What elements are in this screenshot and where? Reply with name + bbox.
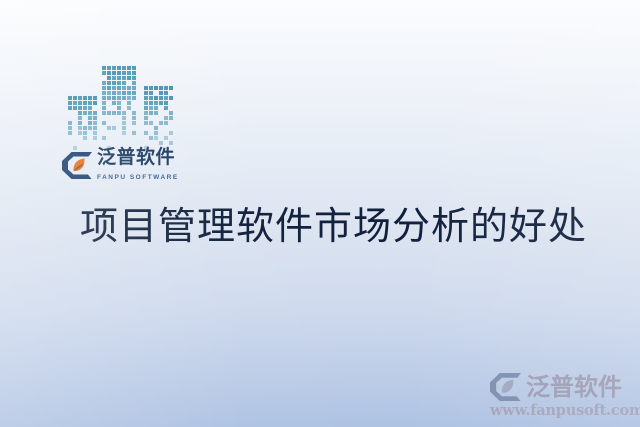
skyline-pixel	[68, 96, 72, 100]
skyline-pixel	[159, 131, 163, 135]
skyline-pixel	[93, 131, 97, 135]
skyline-pixel	[149, 86, 153, 90]
skyline-pixel	[88, 136, 92, 140]
skyline-pixel	[132, 121, 136, 125]
skyline-pixel	[164, 121, 168, 125]
skyline-pixel	[112, 111, 116, 115]
skyline-pixel	[102, 71, 106, 75]
skyline-pixel	[117, 96, 121, 100]
skyline-pixel	[112, 121, 116, 125]
skyline-pixel	[169, 131, 173, 135]
watermark-brand-name: 泛普软件	[526, 375, 622, 399]
slide-canvas: 泛普软件 FANPU SOFTWARE 项目管理软件市场分析的好处 泛普软件 w…	[0, 0, 640, 427]
skyline-pixel	[149, 126, 153, 130]
skyline-pixel	[122, 106, 126, 110]
skyline-pixel	[132, 131, 136, 135]
skyline-pixel	[132, 141, 136, 145]
skyline-pixel	[132, 126, 136, 130]
skyline-pixel	[68, 136, 72, 140]
page-title: 项目管理软件市场分析的好处	[80, 203, 587, 251]
skyline-pixel	[102, 66, 106, 70]
skyline-pixel	[164, 116, 168, 120]
skyline-pixel	[78, 106, 82, 110]
skyline-pixel	[83, 116, 87, 120]
skyline-pixel	[117, 136, 121, 140]
skyline-pixel	[88, 111, 92, 115]
skyline-pixel	[127, 131, 131, 135]
skyline-pixel	[117, 106, 121, 110]
skyline-pixel	[107, 106, 111, 110]
skyline-pixel	[107, 131, 111, 135]
skyline-pixel	[107, 96, 111, 100]
skyline-pixel	[169, 106, 173, 110]
skyline-pixel	[117, 141, 121, 145]
skyline-pixel	[107, 76, 111, 80]
skyline-pixel	[112, 86, 116, 90]
skyline-pixel	[68, 101, 72, 105]
skyline-pixel	[102, 86, 106, 90]
skyline-pixel	[117, 86, 121, 90]
skyline-pixel	[122, 111, 126, 115]
skyline-pixel	[144, 131, 148, 135]
skyline-pixel	[132, 76, 136, 80]
skyline-pixel	[164, 136, 168, 140]
skyline-pixel	[112, 81, 116, 85]
skyline-pixel	[127, 91, 131, 95]
skyline-pixel	[93, 116, 97, 120]
skyline-pixel	[122, 81, 126, 85]
skyline-pixel	[93, 141, 97, 145]
skyline-pixel	[88, 141, 92, 145]
skyline-pixel	[83, 141, 87, 145]
skyline-pixel	[73, 111, 77, 115]
skyline-pixel	[107, 66, 111, 70]
skyline-pixel	[132, 86, 136, 90]
skyline-pixel	[88, 121, 92, 125]
skyline-pixel	[83, 121, 87, 125]
skyline-pixel	[68, 121, 72, 125]
skyline-pixel	[127, 101, 131, 105]
skyline-pixel	[93, 136, 97, 140]
skyline-pixel	[132, 116, 136, 120]
skyline-pixel	[154, 96, 158, 100]
skyline-pixel	[112, 71, 116, 75]
skyline-pixel	[164, 141, 168, 145]
skyline-pixel	[149, 101, 153, 105]
skyline-pixel	[159, 126, 163, 130]
skyline-pixel	[102, 76, 106, 80]
skyline-pixel	[117, 126, 121, 130]
skyline-pixel	[112, 76, 116, 80]
skyline-pixel	[107, 86, 111, 90]
skyline-pixel	[88, 106, 92, 110]
skyline-pixel	[68, 126, 72, 130]
skyline-pixel	[154, 86, 158, 90]
skyline-pixel	[169, 96, 173, 100]
skyline-pixel	[83, 111, 87, 115]
skyline-pixel	[73, 96, 77, 100]
skyline-pixel	[144, 126, 148, 130]
skyline-pixel	[107, 136, 111, 140]
skyline-pixel	[159, 136, 163, 140]
skyline-pixel	[122, 131, 126, 135]
skyline-pixel	[169, 111, 173, 115]
skyline-pixel	[132, 96, 136, 100]
skyline-pixel	[112, 106, 116, 110]
skyline-pixel	[149, 96, 153, 100]
skyline-pixel	[127, 136, 131, 140]
skyline-pixel	[164, 91, 168, 95]
skyline-pixel	[144, 91, 148, 95]
skyline-tower-center	[102, 66, 136, 150]
skyline-pixel	[112, 116, 116, 120]
skyline-pixel	[78, 116, 82, 120]
skyline-pixel	[122, 76, 126, 80]
skyline-pixel	[83, 131, 87, 135]
skyline-pixel	[93, 121, 97, 125]
skyline-pixel	[132, 71, 136, 75]
skyline-pixel	[127, 86, 131, 90]
skyline-pixel	[78, 126, 82, 130]
skyline-pixel	[164, 96, 168, 100]
skyline-pixel	[107, 111, 111, 115]
skyline-pixel	[169, 141, 173, 145]
skyline-pixel	[149, 131, 153, 135]
skyline-pixel	[132, 66, 136, 70]
skyline-pixel	[149, 136, 153, 140]
skyline-pixel	[154, 116, 158, 120]
skyline-pixel	[68, 106, 72, 110]
skyline-pixel	[169, 126, 173, 130]
skyline-pixel	[149, 91, 153, 95]
skyline-pixel	[78, 111, 82, 115]
skyline-pixel	[88, 116, 92, 120]
skyline-pixel	[112, 101, 116, 105]
skyline-pixel	[102, 91, 106, 95]
skyline-pixel	[73, 106, 77, 110]
skyline-pixel	[117, 76, 121, 80]
skyline-pixel	[107, 81, 111, 85]
skyline-pixel	[132, 91, 136, 95]
skyline-pixel	[127, 96, 131, 100]
skyline-pixel	[127, 76, 131, 80]
skyline-pixel	[159, 106, 163, 110]
skyline-pixel	[144, 101, 148, 105]
skyline-pixel	[73, 116, 77, 120]
skyline-pixel	[159, 141, 163, 145]
skyline-pixel	[122, 126, 126, 130]
skyline-pixel	[73, 126, 77, 130]
skyline-pixel	[122, 141, 126, 145]
skyline-pixel	[169, 136, 173, 140]
watermark: 泛普软件 www.fanpusoft.com	[490, 373, 632, 419]
skyline-pixel	[127, 116, 131, 120]
skyline-pixel	[93, 126, 97, 130]
skyline-pixel	[122, 101, 126, 105]
brand-block: 泛普软件 FANPU SOFTWARE	[62, 78, 192, 182]
logo-name-en: FANPU SOFTWARE	[97, 174, 179, 181]
skyline-pixel	[117, 91, 121, 95]
skyline-pixel	[112, 131, 116, 135]
skyline-pixel	[144, 106, 148, 110]
skyline-pixel	[127, 81, 131, 85]
skyline-pixel	[149, 141, 153, 145]
skyline-pixel	[127, 121, 131, 125]
skyline-pixel	[127, 66, 131, 70]
skyline-pixel	[68, 111, 72, 115]
skyline-pixel	[73, 131, 77, 135]
skyline-pixel	[102, 141, 106, 145]
skyline-pixel	[88, 96, 92, 100]
skyline-pixel	[112, 66, 116, 70]
skyline-pixel	[107, 141, 111, 145]
skyline-pixel	[83, 96, 87, 100]
skyline-pixel	[127, 141, 131, 145]
skyline-pixel	[122, 71, 126, 75]
skyline-pixel	[149, 121, 153, 125]
skyline-pixel	[132, 106, 136, 110]
skyline-pixel	[107, 91, 111, 95]
skyline-pixel	[149, 106, 153, 110]
skyline-pixel	[159, 101, 163, 105]
skyline-pixel	[112, 126, 116, 130]
skyline-pixel	[117, 111, 121, 115]
skyline-pixel	[83, 126, 87, 130]
skyline-pixel	[122, 66, 126, 70]
skyline-pixel	[102, 126, 106, 130]
skyline-pixel	[149, 111, 153, 115]
skyline-pixel	[102, 121, 106, 125]
skyline-pixel	[102, 116, 106, 120]
skyline-pixel	[144, 116, 148, 120]
skyline-pixel	[122, 96, 126, 100]
skyline-pixel	[154, 111, 158, 115]
skyline-pixel	[169, 121, 173, 125]
skyline-pixel	[164, 131, 168, 135]
skyline-pixel	[169, 101, 173, 105]
skyline-pixel	[112, 91, 116, 95]
skyline-pixel	[132, 81, 136, 85]
skyline-pixel	[93, 111, 97, 115]
skyline-pixel	[117, 131, 121, 135]
skyline-pixel	[102, 131, 106, 135]
skyline-pixel	[169, 116, 173, 120]
skyline-pixel	[164, 101, 168, 105]
fanpu-emblem-watermark-icon	[490, 373, 521, 401]
skyline-pixel	[127, 111, 131, 115]
skyline-pixel	[78, 96, 82, 100]
skyline-pixel	[144, 111, 148, 115]
company-logo: 泛普软件 FANPU SOFTWARE	[62, 148, 192, 183]
skyline-pixel	[122, 91, 126, 95]
skyline-pixel	[154, 101, 158, 105]
skyline-pixel	[144, 96, 148, 100]
skyline-pixel	[159, 96, 163, 100]
skyline-pixel	[117, 116, 121, 120]
skyline-pixel	[78, 141, 82, 145]
skyline-pixel	[122, 116, 126, 120]
skyline-pixel	[127, 71, 131, 75]
skyline-pixel	[107, 126, 111, 130]
skyline-pixel	[132, 101, 136, 105]
skyline-pixel	[78, 131, 82, 135]
logo-wordmark: 泛普软件 FANPU SOFTWARE	[97, 148, 192, 183]
skyline-pixel	[159, 116, 163, 120]
skyline-pixel	[159, 91, 163, 95]
skyline-pixel	[127, 106, 131, 110]
skyline-pixel	[154, 136, 158, 140]
skyline-pixel	[78, 121, 82, 125]
skyline-tower-right	[144, 86, 173, 150]
skyline-pixel	[107, 101, 111, 105]
skyline-pixel	[117, 101, 121, 105]
skyline-pixel	[83, 106, 87, 110]
watermark-brand-row: 泛普软件	[490, 373, 632, 401]
skyline-pixel	[117, 121, 121, 125]
skyline-pixel	[102, 136, 106, 140]
skyline-pixel	[154, 126, 158, 130]
skyline-pixel	[112, 141, 116, 145]
skyline-pixel	[164, 106, 168, 110]
skyline-pixel	[68, 141, 72, 145]
skyline-pixel	[132, 136, 136, 140]
skyline-pixel	[154, 106, 158, 110]
skyline-pixel	[68, 131, 72, 135]
skyline-tower-left	[68, 96, 97, 150]
skyline-pixel	[144, 86, 148, 90]
skyline-pixel	[93, 96, 97, 100]
skyline-pixel	[149, 116, 153, 120]
skyline-pixel	[78, 136, 82, 140]
skyline-pixel	[93, 106, 97, 110]
skyline-pixel	[164, 111, 168, 115]
skyline-pixel	[169, 86, 173, 90]
skyline-pixel	[102, 111, 106, 115]
skyline-pixel	[102, 81, 106, 85]
skyline-pixel	[107, 116, 111, 120]
skyline-pixel	[73, 141, 77, 145]
skyline-pixel	[117, 66, 121, 70]
fanpu-emblem-icon	[62, 152, 92, 179]
skyline-pixel	[107, 71, 111, 75]
logo-name-cn: 泛普软件	[97, 146, 175, 168]
skyline-pixel	[144, 136, 148, 140]
skyline-pixel	[159, 111, 163, 115]
skyline-pixel	[144, 141, 148, 145]
skyline-pixel	[159, 121, 163, 125]
skyline-pixel	[164, 126, 168, 130]
skyline-pixel	[144, 121, 148, 125]
skyline-pixel	[102, 96, 106, 100]
skyline-pixel	[107, 121, 111, 125]
skyline-pixel	[112, 96, 116, 100]
skyline-pixel	[154, 91, 158, 95]
skyline-pixel	[154, 141, 158, 145]
skyline-pixel	[102, 106, 106, 110]
skyline-pixel	[169, 91, 173, 95]
skyline-pixel	[154, 121, 158, 125]
skyline-pixel	[127, 126, 131, 130]
skyline-pixel	[122, 86, 126, 90]
skyline-pixel	[68, 116, 72, 120]
skyline-pixel	[88, 101, 92, 105]
skyline-pixel	[112, 136, 116, 140]
skyline-pixel	[83, 101, 87, 105]
skyline-pixel	[73, 136, 77, 140]
skyline-pixel	[154, 131, 158, 135]
skyline-pixel	[159, 86, 163, 90]
skyline-pixel	[73, 121, 77, 125]
skyline-pixel	[78, 101, 82, 105]
skyline-pixel	[88, 126, 92, 130]
skyline-pixel	[164, 86, 168, 90]
skyline-pixel	[122, 121, 126, 125]
watermark-url: www.fanpusoft.com	[490, 402, 632, 419]
skyline-pixel	[117, 81, 121, 85]
skyline-pixel	[102, 101, 106, 105]
skyline-pixel	[93, 101, 97, 105]
skyline-pixel	[83, 136, 87, 140]
pixel-skyline-icon	[62, 78, 182, 150]
skyline-pixel	[73, 101, 77, 105]
skyline-pixel	[132, 111, 136, 115]
skyline-pixel	[117, 71, 121, 75]
skyline-pixel	[122, 136, 126, 140]
skyline-pixel	[88, 131, 92, 135]
